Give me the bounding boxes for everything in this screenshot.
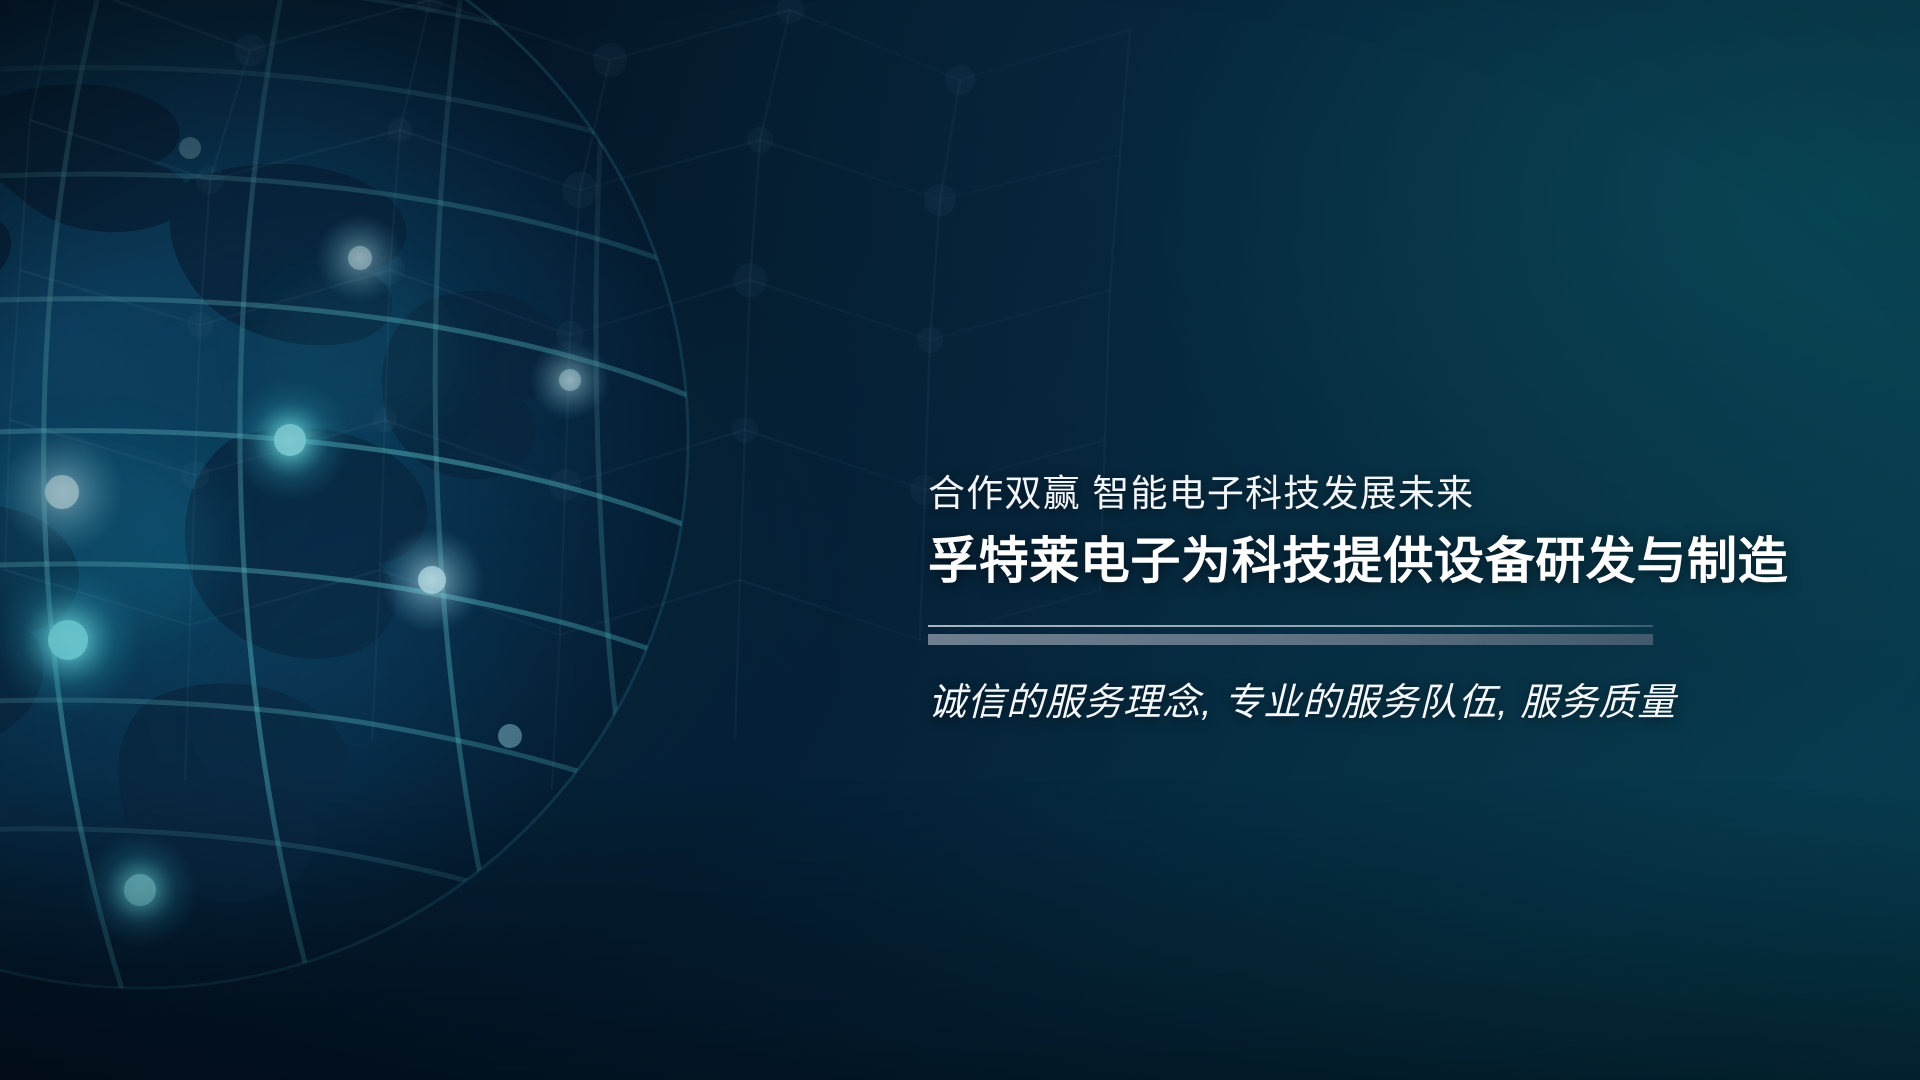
horizontal-divider (928, 625, 1653, 645)
divider-thin-rule (928, 625, 1653, 627)
banner-tagline: 诚信的服务理念, 专业的服务队伍, 服务质量 (928, 679, 1848, 728)
banner-text-block: 合作双赢 智能电子科技发展未来 孚特莱电子为科技提供设备研发与制造 诚信的服务理… (928, 470, 1848, 728)
hero-banner: 合作双赢 智能电子科技发展未来 孚特莱电子为科技提供设备研发与制造 诚信的服务理… (0, 0, 1920, 1080)
divider-thick-rule (928, 634, 1653, 645)
wireframe-globe-icon (0, 0, 850, 1080)
banner-headline: 孚特莱电子为科技提供设备研发与制造 (928, 531, 1848, 591)
banner-eyebrow: 合作双赢 智能电子科技发展未来 (928, 470, 1848, 517)
